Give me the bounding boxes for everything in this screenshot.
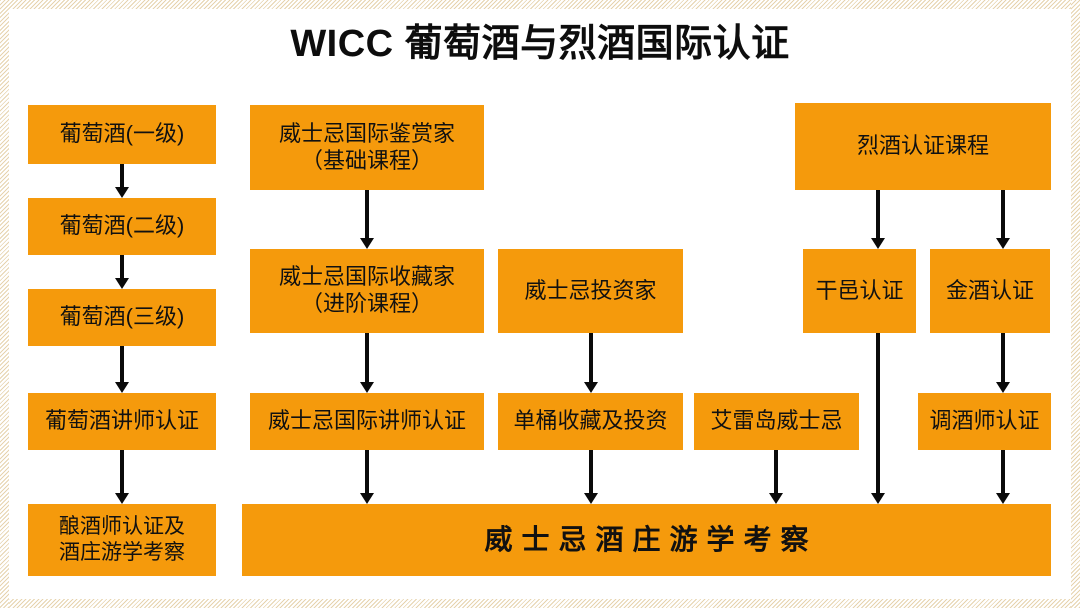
arrow-whisky-instructor-to-tour [365,450,369,504]
page-title: WICC 葡萄酒与烈酒国际认证 [0,12,1080,67]
node-wine-level-3[interactable]: 葡萄酒(三级) [28,289,216,346]
node-cognac-cert[interactable]: 干邑认证 [803,249,916,333]
node-cask-collection-investment[interactable]: 单桶收藏及投资 [498,393,683,450]
arrow-wine1-to-wine2 [120,164,124,198]
arrow-investor-to-cask [589,333,593,393]
arrow-spirits-to-gin [1001,190,1005,249]
node-islay-whisky[interactable]: 艾雷岛威士忌 [694,393,859,450]
arrow-wine3-to-wine-teacher [120,346,124,393]
decorative-frame-top [0,0,1080,9]
node-spirits-certification-course[interactable]: 烈酒认证课程 [795,103,1051,190]
certification-flowchart: WICC 葡萄酒与烈酒国际认证 葡萄酒(一级) 葡萄酒(二级) 葡萄酒(三级) … [0,0,1080,608]
node-winemaker-cert-and-estate-tour[interactable]: 酿酒师认证及 酒庄游学考察 [28,504,216,576]
arrow-islay-to-tour [774,450,778,504]
node-whisky-distillery-study-tour[interactable]: 威士忌酒庄游学考察 [242,504,1051,576]
arrow-gin-to-bartender [1001,333,1005,393]
node-whisky-investor[interactable]: 威士忌投资家 [498,249,683,333]
arrow-whisky-basic-to-advanced [365,190,369,249]
arrow-bartender-to-tour [1001,450,1005,504]
arrow-cognac-to-tour [876,333,880,504]
node-bartender-cert[interactable]: 调酒师认证 [918,393,1051,450]
arrow-cask-to-tour [589,450,593,504]
node-whisky-instructor-cert[interactable]: 威士忌国际讲师认证 [250,393,484,450]
node-wine-level-1[interactable]: 葡萄酒(一级) [28,105,216,164]
node-wine-instructor-cert[interactable]: 葡萄酒讲师认证 [28,393,216,450]
arrow-wine-teacher-to-winemaker [120,450,124,504]
node-whisky-collector-advanced[interactable]: 威士忌国际收藏家 （进阶课程） [250,249,484,333]
arrow-wine2-to-wine3 [120,255,124,289]
node-gin-cert[interactable]: 金酒认证 [930,249,1050,333]
node-wine-level-2[interactable]: 葡萄酒(二级) [28,198,216,255]
arrow-spirits-to-cognac [876,190,880,249]
node-whisky-appreciator-basic[interactable]: 威士忌国际鉴赏家 （基础课程） [250,105,484,190]
arrow-whisky-advanced-to-instructor [365,333,369,393]
decorative-frame-left [0,0,9,608]
decorative-frame-bottom [0,599,1080,608]
decorative-frame-right [1071,0,1080,608]
